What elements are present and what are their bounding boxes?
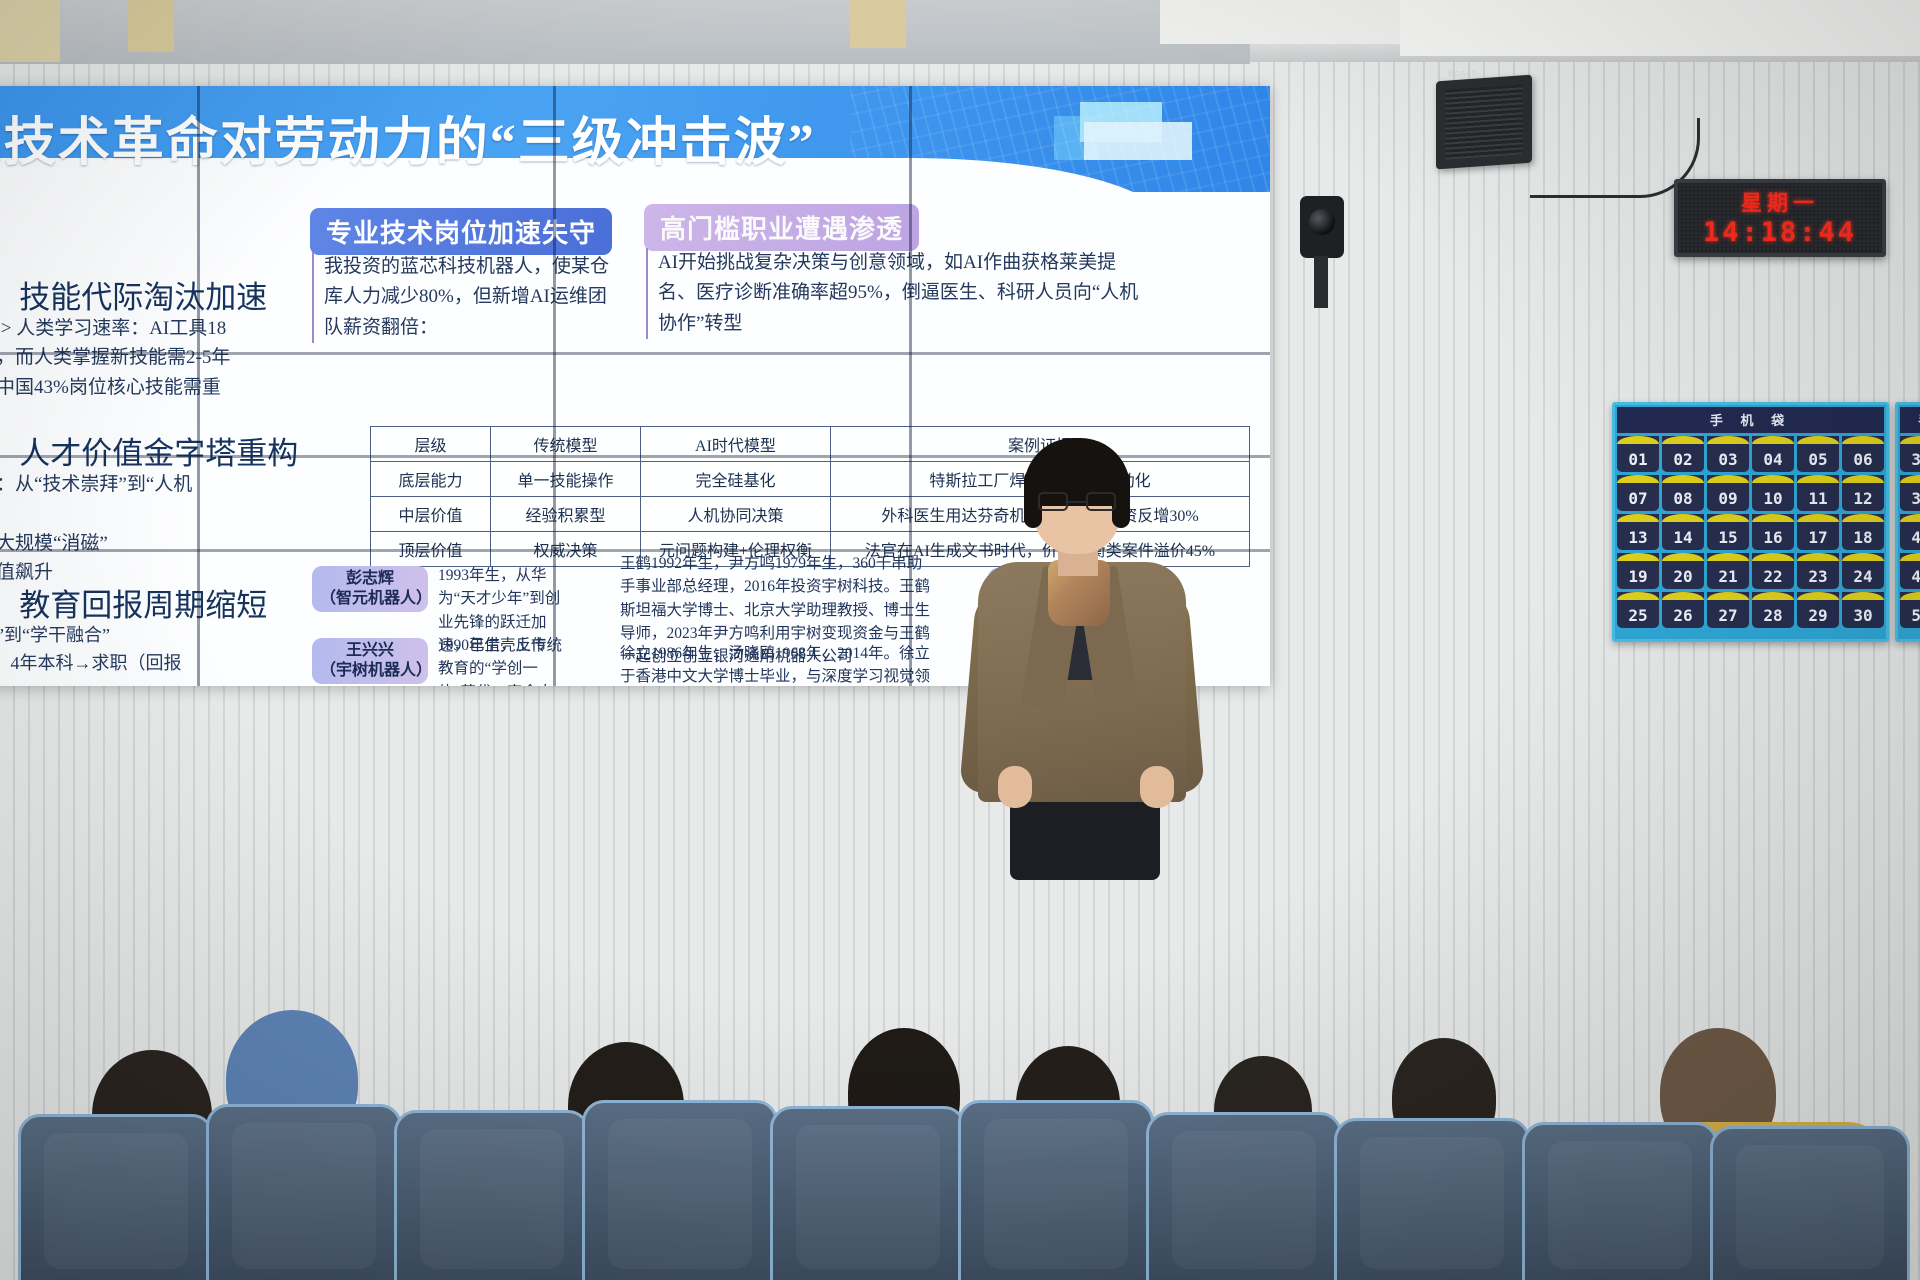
- ceiling-panel-wood: [128, 0, 174, 52]
- wave-2-line: 价值重构：从“技术崇拜”到“人机: [0, 470, 250, 499]
- pocket-row: 49 50: [1900, 553, 1920, 589]
- wave-2-line: 执行能力大规模“消磁”: [0, 529, 250, 558]
- phone-pocket[interactable]: 43: [1900, 514, 1920, 550]
- pocket-row: 19 20 21 22 23 24: [1617, 553, 1884, 589]
- phone-pocket[interactable]: 28: [1752, 592, 1794, 628]
- phone-pocket[interactable]: 14: [1662, 514, 1704, 550]
- wave-1-body: 迭代速率 > 人类学习速率：AI工具18 个月一代，而人类掌握新技能需2-5年 …: [0, 314, 270, 432]
- phone-pocket[interactable]: 19: [1617, 553, 1659, 589]
- presenter-speaker: [960, 430, 1220, 860]
- led-clock-time: 14:18:44: [1678, 217, 1882, 248]
- phone-board-panel-right: 手 机 31 32 37 38 43 44 49 50 55 56: [1895, 402, 1920, 642]
- phone-pocket[interactable]: 26: [1662, 592, 1704, 628]
- pocket-row: 13 14 15 16 17 18: [1617, 514, 1884, 550]
- phone-board-panel-left: 手 机 袋 01 02 03 04 05 06 07 08 09 10 11 1…: [1612, 402, 1889, 642]
- ceiling-panel-wood: [850, 0, 906, 48]
- person-chip[interactable]: 王兴兴 （宇树机器人）: [312, 638, 428, 684]
- auditorium-chair[interactable]: [394, 1110, 590, 1280]
- ceiling-panel: [1400, 0, 1920, 56]
- wave-3-line: 从“学后干”到“学干融合”: [0, 622, 246, 650]
- auditorium-chair[interactable]: [18, 1114, 214, 1280]
- person-chip[interactable]: 彭志辉 （智元机器人）: [312, 566, 428, 612]
- phone-pocket[interactable]: 02: [1662, 436, 1704, 472]
- ceiling-panel: [1160, 0, 1400, 44]
- header-decor-square: [1080, 102, 1162, 142]
- callout-1-pill: 专业技术岗位加速失守: [310, 208, 612, 255]
- wave-3-body: 从“学后干”到“学干融合” 传统教育： 4年本科→求职（回报 期5-8年） AI…: [0, 622, 246, 686]
- phone-pocket[interactable]: 25: [1617, 592, 1659, 628]
- led-clock-day: 星期一: [1678, 187, 1882, 217]
- auditorium-chair[interactable]: [1146, 1112, 1342, 1280]
- phone-board-title: 手 机 袋: [1617, 407, 1884, 433]
- phone-pocket[interactable]: 13: [1617, 514, 1659, 550]
- header-decor-square: [1084, 122, 1192, 160]
- pocket-row: 07 08 09 10 11 12: [1617, 475, 1884, 511]
- wave-1-line: 迭代速率 > 人类学习速率：AI工具18: [0, 314, 270, 343]
- phone-pocket[interactable]: 31: [1900, 436, 1920, 472]
- wave-3-heading: 波3： 教育回报周期缩短: [0, 580, 267, 625]
- ceiling-band: [0, 0, 1250, 64]
- presenter-hand-left: [998, 766, 1032, 808]
- led-clock-display: 星期一 14:18:44: [1674, 179, 1886, 257]
- table-cell: 单一技能操作: [491, 462, 641, 497]
- phone-pocket[interactable]: 16: [1752, 514, 1794, 550]
- phone-pocket[interactable]: 07: [1617, 475, 1659, 511]
- auditorium-chair[interactable]: [206, 1104, 402, 1280]
- person-bio: 1990年生，反传统教育的“学创一体”范代，宿舍自研四足机器人，即将上市: [438, 634, 566, 686]
- pocket-row: 37 38: [1900, 475, 1920, 511]
- wave-2-line: 共势”: [0, 499, 250, 528]
- display-seam: [553, 86, 556, 686]
- phone-pocket[interactable]: 09: [1707, 475, 1749, 511]
- phone-pocket[interactable]: 03: [1707, 436, 1749, 472]
- phone-pocket[interactable]: 06: [1842, 436, 1884, 472]
- audience-area: [0, 860, 1920, 1280]
- phone-pocket[interactable]: 37: [1900, 475, 1920, 511]
- phone-pocket[interactable]: 12: [1842, 475, 1884, 511]
- wave-2-heading: 波2： 人才价值金字塔重构: [0, 428, 298, 473]
- presenter-glasses: [1038, 492, 1116, 512]
- phone-pocket[interactable]: 11: [1797, 475, 1839, 511]
- person-org: （智元机器人）: [320, 589, 420, 609]
- display-seam: [909, 86, 912, 686]
- camera-mount: [1314, 256, 1328, 308]
- table-cell: 人机协同决策: [641, 497, 831, 532]
- phone-pocket[interactable]: 10: [1752, 475, 1794, 511]
- speaker-brand-label: Bosch: [1448, 68, 1478, 78]
- pocket-row: 55 56: [1900, 592, 1920, 628]
- phone-pocket[interactable]: 15: [1707, 514, 1749, 550]
- callout-2-body: AI开始挑战复杂决策与创意领域，如AI作曲获格莱美提名、医疗诊断准确率超95%，…: [646, 248, 1146, 339]
- wall-camera: [1300, 196, 1344, 258]
- phone-pocket[interactable]: 49: [1900, 553, 1920, 589]
- table-cell: 完全硅基化: [641, 462, 831, 497]
- bio-paragraph: 徐立1986年生，汤晓鸥1968年、2014年。徐立于香港中文大学博士毕业，与深…: [620, 642, 930, 686]
- display-seam: [197, 86, 200, 686]
- phone-pocket[interactable]: 05: [1797, 436, 1839, 472]
- phone-pocket[interactable]: 08: [1662, 475, 1704, 511]
- pocket-row: 31 32: [1900, 436, 1920, 472]
- phone-pocket[interactable]: 30: [1842, 592, 1884, 628]
- callout-1-body: 我投资的蓝芯科技机器人，使某仓库人力减少80%，但新增AI运维团队薪资翻倍：: [312, 252, 612, 343]
- slide-title: AI技术革命对劳动力的“三级冲击波”: [0, 100, 816, 175]
- wave-1-heading: 波1： 技能代际淘汰加速: [0, 272, 267, 317]
- phone-pocket[interactable]: 55: [1900, 592, 1920, 628]
- phone-pocket[interactable]: 27: [1707, 592, 1749, 628]
- table-cell: 中层价值: [371, 497, 491, 532]
- phone-pocket[interactable]: 22: [1752, 553, 1794, 589]
- auditorium-chair[interactable]: [958, 1100, 1154, 1280]
- wave-3-line: 期5-8年）: [0, 678, 246, 686]
- ceiling-panel-wood: [0, 0, 60, 62]
- auditorium-chair[interactable]: [1710, 1126, 1910, 1280]
- table-cell: 底层能力: [371, 462, 491, 497]
- wave-1-line: （2025年中国43%岗位核心技能需重: [0, 373, 270, 402]
- phone-pocket[interactable]: 29: [1797, 592, 1839, 628]
- wave-3-line: 传统教育： 4年本科→求职（回报: [0, 650, 246, 678]
- phone-board-title: 手 机: [1900, 407, 1920, 433]
- phone-pocket[interactable]: 18: [1842, 514, 1884, 550]
- phone-pocket[interactable]: 01: [1617, 436, 1659, 472]
- phone-pocket[interactable]: 21: [1707, 553, 1749, 589]
- phone-pocket[interactable]: 17: [1797, 514, 1839, 550]
- callout-2-pill: 高门槛职业遭遇渗透: [644, 204, 919, 251]
- phone-pocket[interactable]: 24: [1842, 553, 1884, 589]
- phone-pocket[interactable]: 04: [1752, 436, 1794, 472]
- auditorium-chair[interactable]: [1334, 1118, 1530, 1280]
- table-cell: 经验积累型: [491, 497, 641, 532]
- lecture-hall-scene: AI技术革命对劳动力的“三级冲击波” 波1： 技能代际淘汰加速 迭代速率 > 人…: [0, 0, 1920, 1280]
- phone-pocket[interactable]: 23: [1797, 553, 1839, 589]
- wave-2-body: 价值重构：从“技术崇拜”到“人机 共势” 执行能力大规模“消磁” 独特质价值飙升: [0, 470, 250, 588]
- auditorium-chair[interactable]: [582, 1100, 778, 1280]
- pocket-row: 01 02 03 04 05 06: [1617, 436, 1884, 472]
- phone-pocket-board: 手 机 袋 01 02 03 04 05 06 07 08 09 10 11 1…: [1612, 402, 1920, 642]
- pocket-row: 25 26 27 28 29 30: [1617, 592, 1884, 628]
- person-org: （宇树机器人）: [320, 661, 420, 681]
- person-name: 彭志辉: [320, 569, 420, 589]
- pocket-row: 43 44: [1900, 514, 1920, 550]
- wave-1-line: 个月一代，而人类掌握新技能需2-5年: [0, 343, 270, 372]
- ceiling-speaker: [1436, 75, 1532, 170]
- phone-pocket[interactable]: 20: [1662, 553, 1704, 589]
- display-seam: [0, 352, 1270, 355]
- header-decor-square: [1054, 116, 1098, 160]
- auditorium-chair[interactable]: [770, 1106, 966, 1280]
- presenter-hand-right: [1140, 766, 1174, 808]
- person-name: 王兴兴: [320, 641, 420, 661]
- auditorium-chair[interactable]: [1522, 1122, 1718, 1280]
